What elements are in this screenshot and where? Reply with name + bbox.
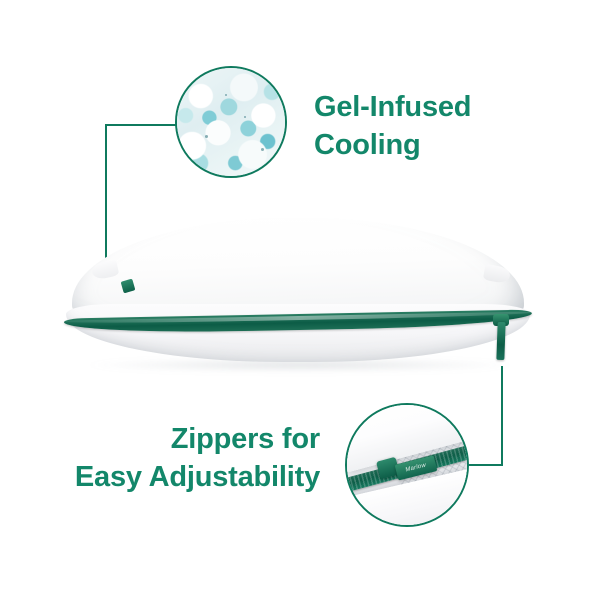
callout-label-gel-infused-cooling: Gel-Infused Cooling xyxy=(314,88,471,164)
product-pillow-image xyxy=(60,218,540,378)
gel-foam-icon xyxy=(177,68,285,176)
callout-circle-zippers-adjustability[interactable]: Marlow xyxy=(345,403,469,527)
callout-label-zippers-easy-adjustability: Zippers for Easy Adjustability xyxy=(20,420,320,496)
connector-zipper-vertical xyxy=(501,366,503,466)
zipper-tab-brand-text: Marlow xyxy=(405,463,427,474)
callout-circle-gel-infused-cooling[interactable] xyxy=(175,66,287,178)
infographic-canvas: Marlow Gel-Infused Cooling Zippers for E… xyxy=(0,0,600,600)
gel-particle-speck xyxy=(225,94,227,96)
connector-gel-horizontal xyxy=(105,124,179,126)
pillow-zipper-pull xyxy=(496,322,505,360)
